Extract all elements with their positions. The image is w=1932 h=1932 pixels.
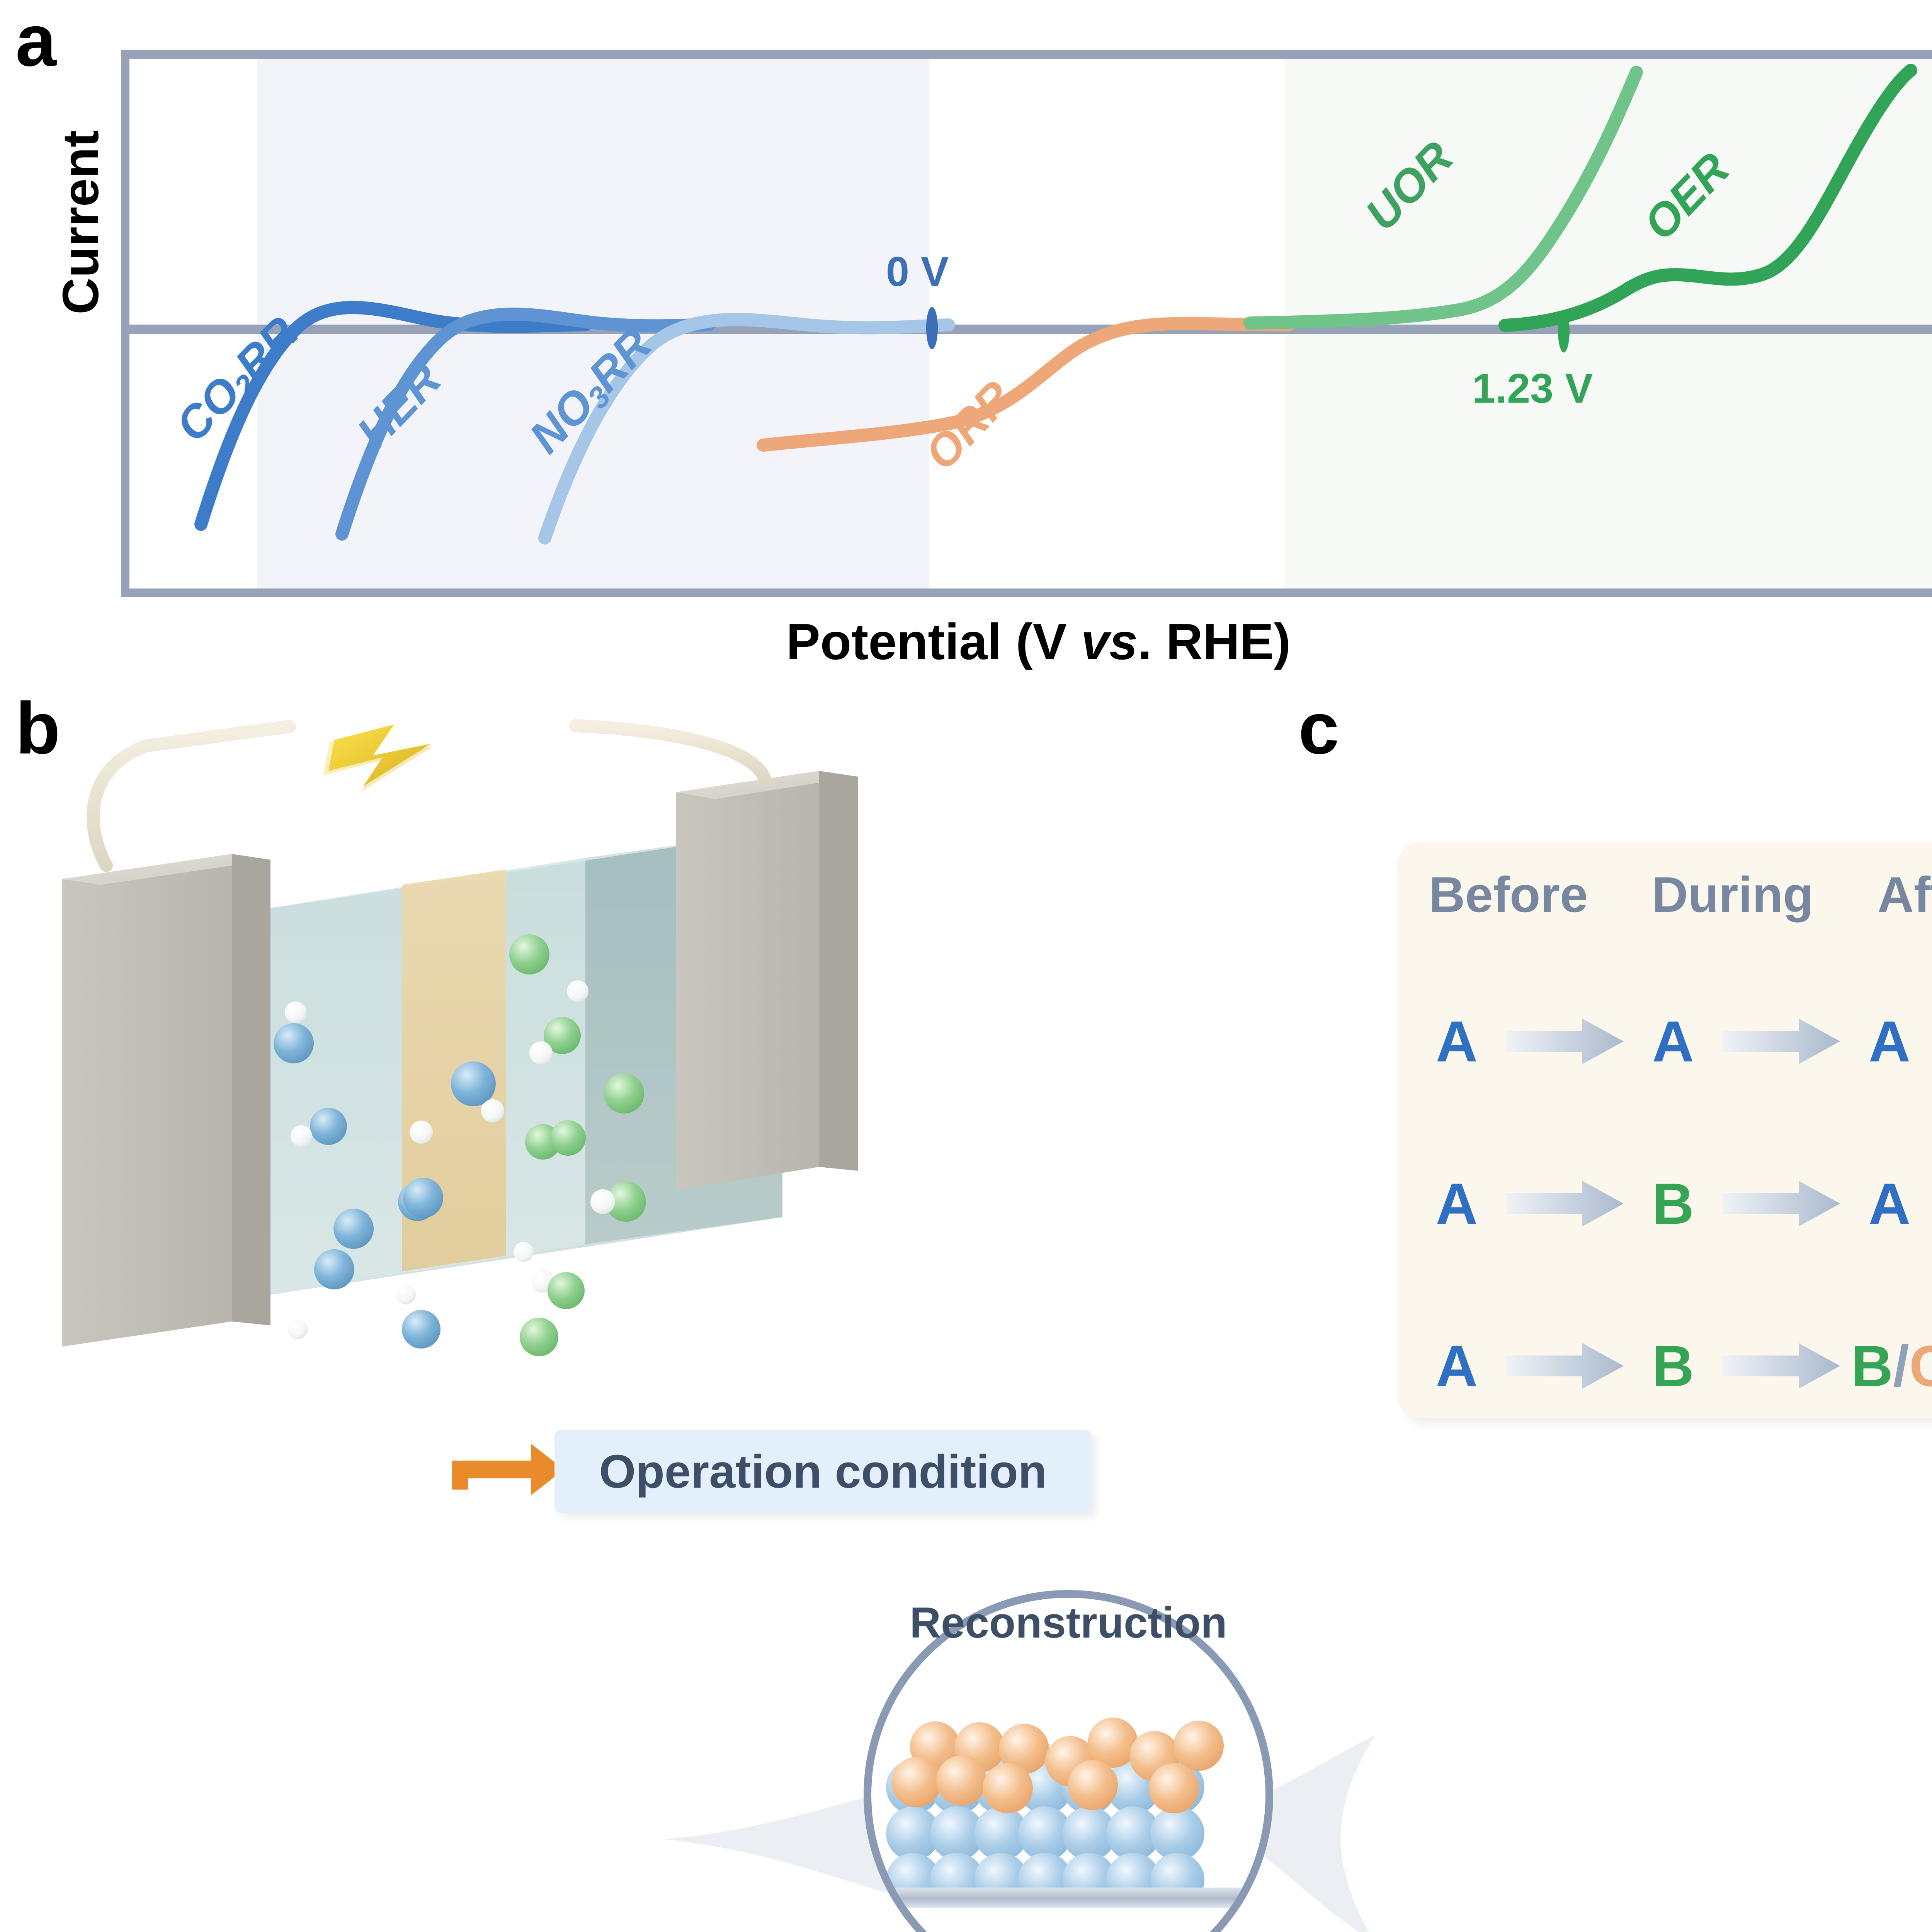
lightning-bolt-icon <box>323 724 434 792</box>
ion-white <box>396 1284 416 1304</box>
cell-after-row3: B/C <box>1843 1333 1932 1400</box>
chart-plot-frame: 0 V 1.23 V CO2RR HER NO3RR ORR UOR OER <box>121 50 1932 597</box>
x-axis-label-post: . RHE) <box>1138 613 1291 670</box>
transition-arrow-icon <box>1503 1341 1627 1391</box>
surface-atom-orange <box>936 1755 986 1806</box>
surface-atom-orange <box>1068 1760 1118 1810</box>
ion-blue <box>403 1178 443 1218</box>
panel-label-a: a <box>15 4 56 77</box>
cell-before-row2: A <box>1410 1170 1503 1237</box>
catalyst-substrate-bar <box>887 1888 1269 1908</box>
cell-during-row1: A <box>1627 1008 1719 1075</box>
surface-atom-orange <box>1149 1763 1199 1813</box>
ion-white <box>529 1041 553 1065</box>
panel-b: b <box>0 692 1294 1571</box>
surface-atom-orange <box>983 1763 1033 1813</box>
cathode-plate-front <box>62 854 232 1347</box>
table-row: A A A <box>1410 997 1932 1086</box>
ion-blue <box>314 1249 354 1289</box>
cell-before-row3: A <box>1410 1333 1503 1400</box>
column-header-during: During <box>1652 866 1814 923</box>
cell-after-row1: A <box>1843 1008 1932 1075</box>
ion-white <box>590 1189 615 1214</box>
zero-volt-label: 0 V <box>886 247 949 296</box>
operation-condition-callout: Operation condition <box>554 1430 1092 1513</box>
ion-blue <box>310 1108 347 1145</box>
cathode-plate-side <box>232 854 270 1325</box>
ion-white <box>567 980 588 1002</box>
ion-green <box>509 934 549 975</box>
cell-during-row3: B <box>1627 1333 1719 1400</box>
table-row: A B B/C <box>1410 1321 1932 1410</box>
x-axis-label: Potential (V vs. RHE) <box>0 612 1932 671</box>
chart-curves-svg <box>129 59 1932 588</box>
ion-white <box>410 1121 433 1144</box>
anode-plate-front <box>676 771 819 1190</box>
table-row: A B A <box>1410 1159 1932 1248</box>
transition-arrow-icon <box>1719 1016 1843 1066</box>
cell-after-row3-b: B <box>1851 1333 1893 1398</box>
one-twentythree-volt-label: 1.23 V <box>1472 364 1593 412</box>
transition-arrow-icon <box>1719 1341 1843 1391</box>
reconstruction-label: Reconstruction <box>869 1598 1267 1648</box>
panel-a: a Current 0 V 1.23 V CO2RR HER NO3 <box>0 0 1932 692</box>
ion-blue <box>274 1023 314 1063</box>
column-header-before: Before <box>1429 866 1588 923</box>
ion-white <box>514 1242 534 1262</box>
ion-green <box>550 1120 586 1156</box>
ion-white <box>285 1002 306 1023</box>
cathode-wire <box>93 726 290 866</box>
ion-green <box>520 1318 558 1356</box>
ion-white <box>291 1125 312 1147</box>
transition-arrow-icon <box>1503 1179 1627 1229</box>
curve-orr <box>763 324 1289 445</box>
cell-after-row2: A <box>1843 1170 1932 1237</box>
panel-c: c Before During After A A A A <box>1294 692 1932 1571</box>
ion-green <box>548 1272 585 1309</box>
transition-arrow-icon <box>1719 1179 1843 1229</box>
cell-before-row1: A <box>1410 1008 1503 1075</box>
x-axis-label-pre: Potential (V <box>786 613 1081 670</box>
ion-blue <box>333 1209 374 1249</box>
cell-during-row2: B <box>1627 1170 1719 1237</box>
panel-label-c: c <box>1298 692 1339 765</box>
one-twentythree-volt-marker <box>1558 310 1570 352</box>
zero-volt-marker <box>926 307 938 349</box>
ion-white <box>481 1099 504 1122</box>
anode-wire <box>576 726 765 781</box>
ion-white <box>287 1319 308 1339</box>
column-header-after: After <box>1878 866 1932 923</box>
ion-green <box>604 1073 644 1114</box>
curve-uor <box>1250 72 1636 323</box>
surface-atom-orange <box>1173 1721 1224 1771</box>
ion-blue <box>451 1061 496 1106</box>
surface-atom-orange <box>891 1757 942 1807</box>
electrochemical-cell-illustration <box>23 703 896 1534</box>
y-axis-label: Current <box>51 130 110 315</box>
cell-after-row3-slash: / <box>1893 1333 1909 1398</box>
lattice-atom-blue <box>1150 1806 1204 1861</box>
anode-plate-side <box>819 771 858 1171</box>
cell-after-row3-c: C <box>1909 1333 1932 1398</box>
x-axis-label-vs: vs <box>1081 613 1138 670</box>
species-table-header-row: Before During After <box>1397 866 1932 923</box>
operation-condition-arrow-icon <box>448 1439 568 1509</box>
transition-arrow-icon <box>1503 1016 1627 1066</box>
ion-blue <box>402 1310 440 1349</box>
